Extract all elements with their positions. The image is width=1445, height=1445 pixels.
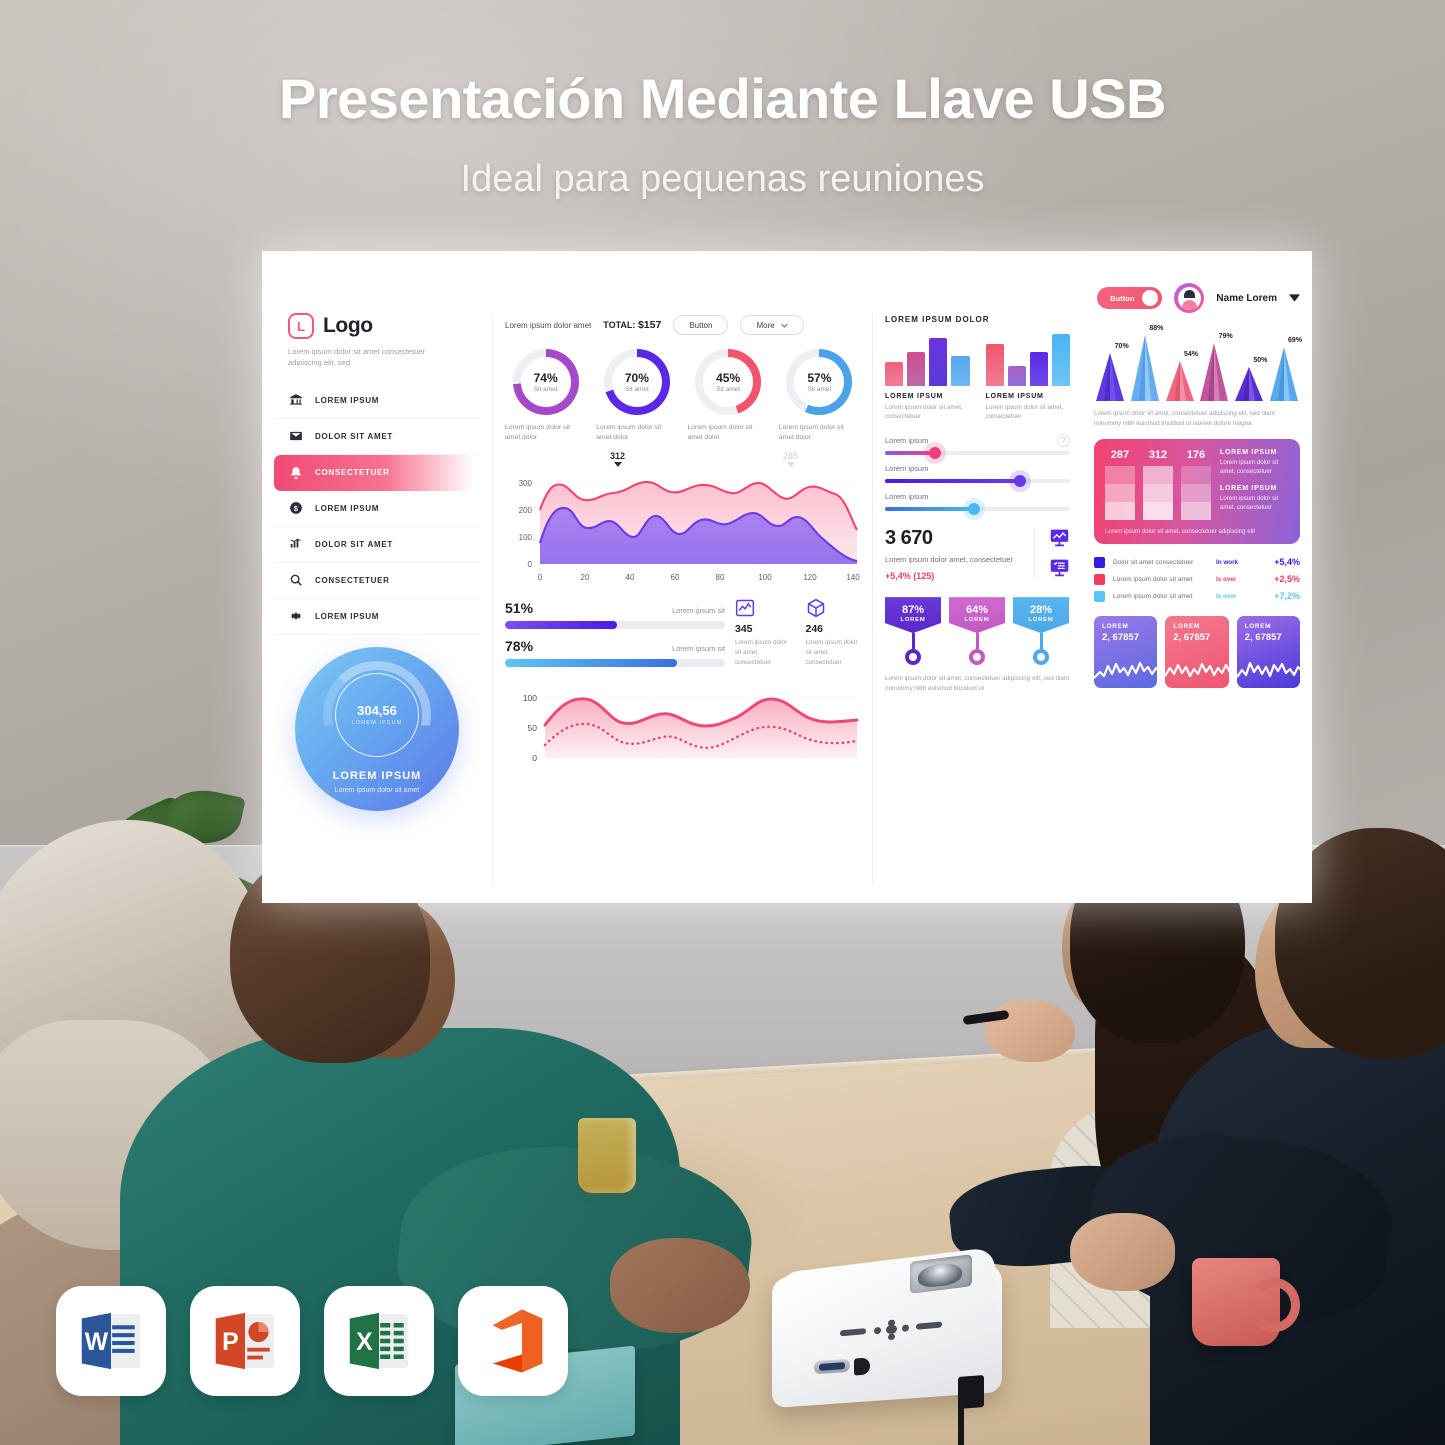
pink-card-sub: Lorem ipsum dolor sit amet, consectetuer [1220, 458, 1289, 477]
power-cable [958, 1400, 1018, 1445]
svg-text:X: X [356, 1329, 373, 1356]
cone-value: 54% [1184, 351, 1198, 358]
svg-text:P: P [222, 1329, 239, 1356]
gauge-subtitle: Lorem ipsum dolor sit amet [335, 786, 419, 796]
gauge-ring: 304,56 LOREM IPSUM [335, 673, 419, 757]
pin-head: 87% LOREM [885, 597, 941, 633]
svg-text:200: 200 [519, 506, 533, 515]
legend-delta: +7,2% [1262, 591, 1300, 601]
progress-and-stats: 51% Lorem ipsum sit 78% Lorem ipsum sit [505, 598, 860, 667]
legend-status: Is over [1216, 593, 1254, 600]
progress-list: 51% Lorem ipsum sit 78% Lorem ipsum sit [505, 600, 725, 667]
area-chart-widget: 312 285 [505, 453, 860, 587]
avatar[interactable] [1174, 283, 1204, 313]
bar [1030, 352, 1048, 386]
pink-card-footer: Lorem ipsum dolor sit amet, consectetuer… [1105, 528, 1289, 535]
cube-icon [806, 598, 826, 618]
page-title: Presentación Mediante Llave USB [0, 66, 1445, 131]
legend-status: In work [1216, 559, 1254, 566]
gauge-widget[interactable]: 304,56 LOREM IPSUM LOREM IPSUM Lorem ips… [295, 647, 459, 811]
svg-text:0: 0 [528, 560, 533, 569]
big-stat-number: 3 670 [885, 527, 1022, 550]
sidebar-item-consectetuer-2[interactable]: CONSECTETUER [274, 563, 480, 599]
cone-value: 50% [1253, 357, 1267, 364]
mini-sparkline-card[interactable]: LOREM 2, 67857 [1165, 616, 1228, 688]
donut-chart: 57% Sit amet [786, 349, 852, 415]
cone-value: 70% [1115, 343, 1129, 350]
pink-card-value: 312 [1143, 449, 1173, 461]
cone-shape [1166, 361, 1194, 401]
bar [1052, 334, 1070, 386]
bank-icon [288, 393, 303, 408]
powerpoint-icon[interactable]: P [190, 1286, 300, 1396]
sidebar-item-lorem-ipsum-1[interactable]: LOREM IPSUM [274, 383, 480, 419]
slider-knob[interactable] [1014, 475, 1026, 487]
projection-screen: L Logo Lorem ipsum dolor sit amet consec… [262, 251, 1312, 903]
donut-caption: Lorem ipsum dolor sit amet dolor [505, 423, 586, 443]
gauge-widget-wrap: 304,56 LOREM IPSUM LOREM IPSUM Lorem ips… [274, 647, 480, 811]
mini-card-value: 2, 67857 [1173, 632, 1220, 643]
progress-label: Lorem ipsum sit [672, 606, 725, 615]
pin-stem [976, 633, 979, 649]
mini-stat-value: 345 [735, 623, 790, 635]
sparkline-icon [1094, 654, 1157, 688]
slider-row[interactable]: Lorem ipsum [885, 436, 1070, 455]
pink-card-title: LOREM IPSUM [1220, 449, 1289, 456]
pin-marker[interactable]: 28% LOREM [1013, 597, 1069, 665]
wave-chart-svg[interactable]: 100500 [505, 682, 860, 774]
right-column: Button Name Lorem 70% 88% 54% [1082, 313, 1312, 885]
cone-chart[interactable]: 70% 88% 54% 79% 50% [1094, 327, 1300, 401]
legend-delta: +5,4% [1262, 557, 1300, 567]
toolbar: Lorem ipsum dolor amet TOTAL: $157 Butto… [505, 313, 860, 337]
area-chart-svg[interactable]: 300200 1000 02040 6080100 120140 [505, 467, 860, 585]
pink-card-bar: 312 [1143, 449, 1173, 520]
help-icon[interactable]: ? [1057, 434, 1070, 447]
cone-value: 79% [1219, 333, 1233, 340]
pin-head: 28% LOREM [1013, 597, 1069, 633]
cone-shape [1096, 353, 1124, 401]
mini-card-title: LOREM [1102, 623, 1149, 630]
mini-stats: 345 Lorem ipsum dolor sit amet, consecte… [735, 598, 860, 667]
pin-label: LOREM [949, 617, 1005, 623]
legend-text: Dolor sit amet consectetuer [1113, 559, 1208, 566]
barsets-title: LOREM IPSUM DOLOR [885, 315, 1070, 324]
svg-text:100: 100 [523, 693, 537, 703]
legend-swatch [1094, 591, 1105, 602]
button-primary[interactable]: Button [673, 315, 728, 335]
pink-card-text: LOREM IPSUM Lorem ipsum dolor sit amet, … [1220, 449, 1289, 520]
logo-subtitle: Lorem ipsum dolor sit amet consectetuer … [274, 346, 459, 369]
pin-label: LOREM [885, 617, 941, 623]
donut-caption: Lorem ipsum dolor sit amet dolor [779, 423, 860, 443]
toolbar-lorem-text: Lorem ipsum dolor amet [505, 321, 591, 330]
office-icon[interactable] [458, 1286, 568, 1396]
mini-card-value: 2, 67857 [1245, 632, 1292, 643]
cone-caption: Lorem ipsum dolor sit amet, consectetuer… [1094, 409, 1300, 429]
cone-item: 88% [1129, 335, 1162, 401]
gauge-value: 304,56 [357, 703, 397, 718]
legend-row[interactable]: Lorem ipsum dolor sit amet Is over +7,2% [1094, 588, 1300, 605]
sidebar-item-label: LOREM IPSUM [315, 612, 379, 621]
cone-shape [1131, 335, 1159, 401]
cone-shape [1200, 343, 1228, 401]
barsets: LOREM IPSUM Lorem ipsum dolor sit amet, … [885, 334, 1070, 422]
pink-stat-card[interactable]: 287 312 [1094, 439, 1300, 544]
pin-dot [969, 649, 985, 665]
more-label: More [756, 321, 774, 330]
donut-card[interactable]: 45% Sit amet Lorem ipsum dolor sit amet … [688, 349, 769, 443]
chevron-down-icon [781, 323, 788, 328]
donut-caption: Lorem ipsum dolor sit amet dolor [688, 423, 769, 443]
legend-text: Lorem ipsum dolor sit amet [1113, 593, 1208, 600]
big-stat-icons [1034, 527, 1070, 578]
cone-value: 88% [1149, 325, 1163, 332]
donut-sub: Sit amet [716, 386, 740, 393]
progress-track [505, 659, 725, 667]
mini-stat-card[interactable]: 246 Lorem ipsum dolor sit amet, consecte… [806, 598, 861, 667]
drinking-glass [578, 1118, 636, 1193]
donut-sub: Sit amet [807, 386, 831, 393]
mini-stat-caption: Lorem ipsum dolor sit amet, consectetuer [735, 638, 790, 667]
donut-chart: 45% Sit amet [695, 349, 761, 415]
svg-text:140: 140 [846, 573, 860, 582]
mini-stat-value: 246 [806, 623, 861, 635]
cone-item: 69% [1267, 347, 1300, 401]
pink-card-sub: Lorem ipsum dolor sit amet, consectetuer [1220, 494, 1289, 513]
chart-icon [288, 537, 303, 552]
cone-item: 54% [1163, 361, 1196, 401]
excel-icon[interactable]: X [324, 1286, 434, 1396]
legend-delta: +2,5% [1262, 574, 1300, 584]
svg-text:W: W [85, 1329, 109, 1356]
mini-sparkline-card[interactable]: LOREM 2, 67857 [1094, 616, 1157, 688]
pins-caption: Lorem ipsum dolor sit amet, consectetuer… [885, 674, 1070, 694]
pin-marker[interactable]: 64% LOREM [949, 597, 1005, 665]
svg-text:300: 300 [519, 479, 533, 488]
sidebar-item-label: CONSECTETUER [315, 576, 390, 585]
area-chart-flag-right: 285 [783, 451, 798, 467]
total-label: TOTAL: [603, 320, 635, 330]
legend-row[interactable]: Dolor sit amet consectetuer In work +5,4… [1094, 554, 1300, 571]
progress-track [505, 621, 725, 629]
slider-track[interactable] [885, 479, 1070, 483]
mini-card-title: LOREM [1245, 623, 1292, 630]
slider-track[interactable] [885, 451, 1070, 455]
dollar-icon: $ [288, 501, 303, 516]
donut-sub: Sit amet [534, 386, 558, 393]
svg-text:60: 60 [671, 573, 680, 582]
pin-stem [1040, 633, 1043, 649]
donut-card[interactable]: 70% Sit amet Lorem ipsum dolor sit amet … [596, 349, 677, 443]
projector-device [762, 1248, 1022, 1438]
donut-value: 57% [807, 371, 831, 385]
toggle-knob [1142, 290, 1158, 306]
main-column: Lorem ipsum dolor amet TOTAL: $157 Butto… [492, 313, 872, 885]
sidebar-nav: LOREM IPSUM DOLOR SIT AMET CONSECTETUER … [274, 383, 480, 635]
barset-label: LOREM IPSUM [986, 393, 1071, 400]
area-chart-flag-left: 312 [610, 451, 625, 467]
pin-dot [1033, 649, 1049, 665]
svg-text:20: 20 [581, 573, 590, 582]
bar [986, 344, 1004, 386]
progress-percent: 51% [505, 600, 533, 616]
dashboard-ui: L Logo Lorem ipsum dolor sit amet consec… [262, 251, 1312, 903]
pink-card-bars: 287 312 [1105, 449, 1211, 520]
svg-text:120: 120 [803, 573, 817, 582]
cone-shape [1270, 347, 1298, 401]
mini-card-title: LOREM [1173, 623, 1220, 630]
word-icon[interactable]: W [56, 1286, 166, 1396]
slider-knob[interactable] [929, 447, 941, 459]
coffee-mug [1192, 1258, 1280, 1346]
barset-caption: Lorem ipsum dolor sit amet, consectetuer [885, 403, 970, 422]
pin-markers: 87% LOREM 64% LOREM 28% [885, 597, 1070, 665]
mini-sparkline-card[interactable]: LOREM 2, 67857 [1237, 616, 1300, 688]
big-stat-sub: Lorem ipsum dolor amet, consectetuer [885, 554, 1022, 565]
monitor-chart-icon[interactable] [1049, 527, 1070, 548]
svg-text:$: $ [293, 504, 298, 513]
bell-icon [288, 465, 303, 480]
barset-caption: Lorem ipsum dolor sit amet, consectetuer [986, 403, 1071, 422]
bar [907, 352, 925, 386]
cone-item: 70% [1094, 353, 1127, 401]
svg-text:0: 0 [532, 753, 537, 763]
stats-column: LOREM IPSUM DOLOR LOREM IPSUM Lorem ipsu… [872, 313, 1082, 885]
big-stat: 3 670 Lorem ipsum dolor amet, consectetu… [885, 527, 1070, 581]
toggle-label: Button [1110, 294, 1134, 303]
big-stat-delta: +5,4% (125) [885, 571, 1022, 581]
page-subtitle: Ideal para pequenas reuniones [0, 158, 1445, 201]
pink-card-title: LOREM IPSUM [1220, 485, 1289, 492]
gauge-value-sub: LOREM IPSUM [352, 720, 403, 726]
hand-holding-pointer [985, 1000, 1075, 1062]
mail-icon [288, 429, 303, 444]
svg-text:50: 50 [528, 723, 538, 733]
progress-fill [505, 621, 617, 629]
barset-label: LOREM IPSUM [885, 393, 970, 400]
sparkline-icon [1165, 654, 1228, 688]
mini-card-value: 2, 67857 [1102, 632, 1149, 643]
slider-row[interactable]: Lorem ipsum [885, 464, 1070, 483]
barset-group[interactable]: LOREM IPSUM Lorem ipsum dolor sit amet, … [885, 334, 970, 422]
gear-icon [288, 609, 303, 624]
mini-card-row: LOREM 2, 67857 LOREM 2, 67857 LOREM 2, 6… [1094, 616, 1300, 688]
pin-dot [905, 649, 921, 665]
barset-group[interactable]: LOREM IPSUM Lorem ipsum dolor sit amet, … [986, 334, 1071, 422]
cone-value: 69% [1288, 337, 1302, 344]
svg-text:40: 40 [626, 573, 635, 582]
cone-shape [1235, 367, 1263, 401]
toggle-button[interactable]: Button [1097, 287, 1162, 309]
legend-swatch [1094, 557, 1105, 568]
slider-knob[interactable] [968, 503, 980, 515]
sidebar-item-label: CONSECTETUER [315, 468, 390, 477]
bar-group [986, 334, 1071, 386]
pin-head: 64% LOREM [949, 597, 1005, 633]
header-right: Button Name Lorem [1094, 283, 1300, 313]
more-dropdown[interactable]: More [740, 315, 803, 335]
sidebar-item-dolor-sit-amet-2[interactable]: DOLOR SIT AMET [274, 527, 480, 563]
sidebar-item-lorem-ipsum-3[interactable]: LOREM IPSUM [274, 599, 480, 635]
sidebar-item-label: DOLOR SIT AMET [315, 540, 393, 549]
svg-text:100: 100 [519, 533, 533, 542]
search-icon [288, 573, 303, 588]
legend-swatch [1094, 574, 1105, 585]
chevron-down-icon[interactable] [1289, 294, 1300, 302]
sidebar: L Logo Lorem ipsum dolor sit amet consec… [262, 313, 492, 885]
slider-label: Lorem ipsum [885, 436, 1070, 445]
bar [1008, 366, 1026, 386]
pin-value: 87% [885, 604, 941, 616]
donut-card[interactable]: 57% Sit amet Lorem ipsum dolor sit amet … [779, 349, 860, 443]
bar-group [885, 334, 970, 386]
toolbar-total: TOTAL: $157 [603, 319, 661, 331]
mini-stat-caption: Lorem ipsum dolor sit amet, consectetuer [806, 638, 861, 667]
legend-status: Is over [1216, 576, 1254, 583]
vga-port [814, 1359, 850, 1375]
monitor-list-icon[interactable] [1049, 557, 1070, 578]
donut-chart: 70% Sit amet [604, 349, 670, 415]
sidebar-item-label: LOREM IPSUM [315, 504, 379, 513]
person-man-dark-blazer [1200, 828, 1445, 1445]
pin-value: 64% [949, 604, 1005, 616]
donut-sub: Sit amet [625, 386, 649, 393]
user-name: Name Lorem [1216, 293, 1277, 304]
cone-item: 50% [1233, 367, 1266, 401]
slider-label: Lorem ipsum [885, 464, 1070, 473]
cone-item: 79% [1198, 343, 1231, 401]
progress-label: Lorem ipsum sit [672, 644, 725, 653]
bar [929, 338, 947, 386]
pink-card-value: 287 [1105, 449, 1135, 461]
pink-card-value: 176 [1181, 449, 1211, 461]
pin-value: 28% [1013, 604, 1069, 616]
sidebar-item-consectetuer-active[interactable]: CONSECTETUER [274, 455, 474, 491]
sidebar-item-label: LOREM IPSUM [315, 396, 379, 405]
logo-text: Logo [323, 314, 373, 338]
progress-item[interactable]: 51% Lorem ipsum sit [505, 600, 725, 629]
sliders: ? Lorem ipsum Lorem ipsum Lor [885, 436, 1070, 511]
sidebar-item-dolor-sit-amet-1[interactable]: DOLOR SIT AMET [274, 419, 480, 455]
donut-value: 45% [716, 371, 740, 385]
pin-stem [912, 633, 915, 649]
bar [951, 356, 969, 386]
donut-card[interactable]: 74% Sit amet Lorem ipsum dolor sit amet … [505, 349, 586, 443]
pink-card-bar: 176 [1181, 449, 1211, 520]
mini-stat-card[interactable]: 345 Lorem ipsum dolor sit amet, consecte… [735, 598, 790, 667]
logo[interactable]: L Logo [274, 313, 480, 339]
office-app-icons: W P X [56, 1286, 568, 1396]
legend-table: Dolor sit amet consectetuer In work +5,4… [1094, 554, 1300, 605]
donut-caption: Lorem ipsum dolor sit amet dolor [596, 423, 677, 443]
progress-fill [505, 659, 677, 667]
slider-fill [885, 479, 1020, 483]
slider-track[interactable] [885, 507, 1070, 511]
pin-label: LOREM [1013, 617, 1069, 623]
svg-text:0: 0 [538, 573, 543, 582]
sidebar-item-lorem-ipsum-2[interactable]: $ LOREM IPSUM [274, 491, 480, 527]
svg-text:100: 100 [758, 573, 772, 582]
slider-fill [885, 507, 974, 511]
svg-text:80: 80 [716, 573, 725, 582]
pin-marker[interactable]: 87% LOREM [885, 597, 941, 665]
progress-percent: 78% [505, 638, 533, 654]
donut-value: 74% [534, 371, 558, 385]
progress-item[interactable]: 78% Lorem ipsum sit [505, 638, 725, 667]
donut-chart: 74% Sit amet [513, 349, 579, 415]
line-chart-icon [735, 598, 755, 618]
legend-text: Lorem ipsum dolor sit amet [1113, 576, 1208, 583]
sparkline-icon [1237, 654, 1300, 688]
bar [885, 362, 903, 386]
logo-mark-icon: L [288, 313, 314, 339]
legend-row[interactable]: Lorem ipsum dolor sit amet Is over +2,5% [1094, 571, 1300, 588]
sidebar-item-label: DOLOR SIT AMET [315, 432, 393, 441]
gauge-title: LOREM IPSUM [333, 770, 422, 782]
slider-row[interactable]: Lorem ipsum [885, 492, 1070, 511]
pink-card-bar: 287 [1105, 449, 1135, 520]
total-value: $157 [638, 319, 661, 331]
donut-value: 70% [625, 371, 649, 385]
donut-chart-row: 74% Sit amet Lorem ipsum dolor sit amet … [505, 349, 860, 443]
